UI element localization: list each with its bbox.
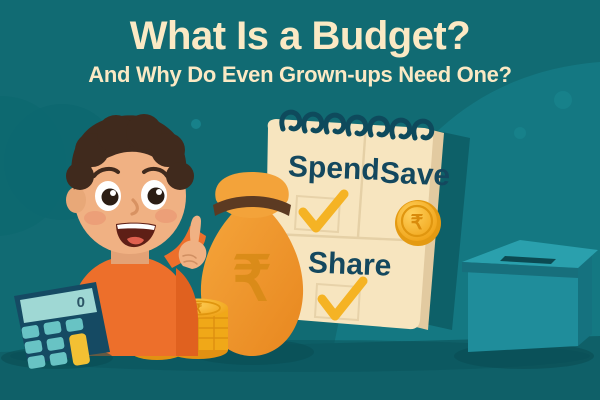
donation-box [454,240,598,369]
illustration-canvas: ₹ ₹ [0,0,600,400]
page-subtitle: And Why Do Even Grown-ups Need One? [0,62,600,88]
boy-ear [66,187,86,213]
notepad-label-spend: Spend [287,150,380,188]
notepad-label-save: Save [379,157,450,194]
page-title: What Is a Budget? [0,14,600,59]
svg-text:₹: ₹ [411,212,424,234]
money-bag-neck [215,172,289,218]
scene-artwork: ₹ ₹ [0,0,600,400]
coin-save-icon: ₹ [395,200,441,246]
decor-circle-3 [191,119,201,129]
money-bag-rupee-symbol: ₹ [232,245,271,314]
decor-circle-1 [554,91,572,109]
decor-circle-2 [514,127,526,139]
boy-cheek-left [84,211,106,225]
notepad-label-share: Share [307,246,392,283]
calculator-display-value: 0 [77,294,85,311]
boy-cheek-right [155,209,177,223]
